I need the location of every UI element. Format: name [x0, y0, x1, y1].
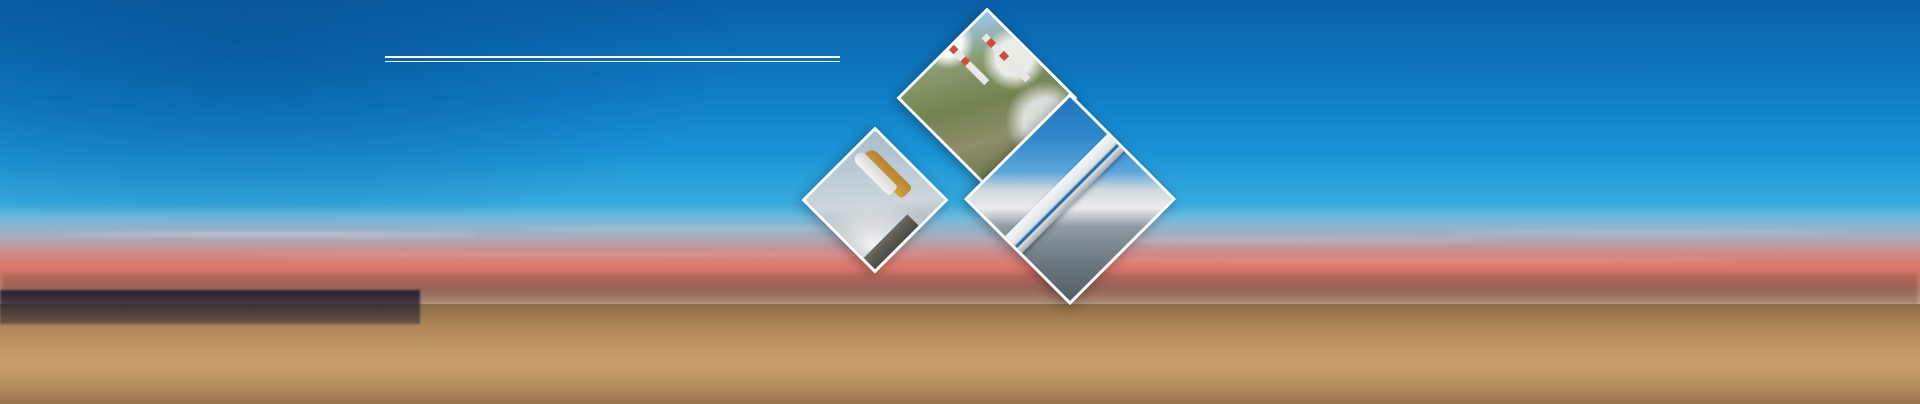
launch-pad-icon — [837, 214, 919, 274]
smokestack-icon — [945, 41, 990, 86]
corporate-name — [385, 18, 880, 51]
train-stripe — [1001, 124, 1140, 263]
photo-collage — [815, 20, 1235, 310]
logo-block — [320, 18, 880, 113]
divider-rules — [385, 51, 880, 62]
divider-thick — [385, 56, 840, 58]
space-shuttle-image — [801, 126, 948, 273]
divider-thin — [385, 61, 840, 62]
promotional-banner — [0, 0, 1920, 404]
logo-text-group — [385, 18, 880, 71]
cloud-streak — [1450, 230, 1850, 235]
cloud-streak — [60, 232, 480, 237]
space-shuttle-photo — [801, 126, 948, 273]
smokestack-icon — [982, 34, 1031, 83]
ground-shadow — [0, 290, 420, 324]
